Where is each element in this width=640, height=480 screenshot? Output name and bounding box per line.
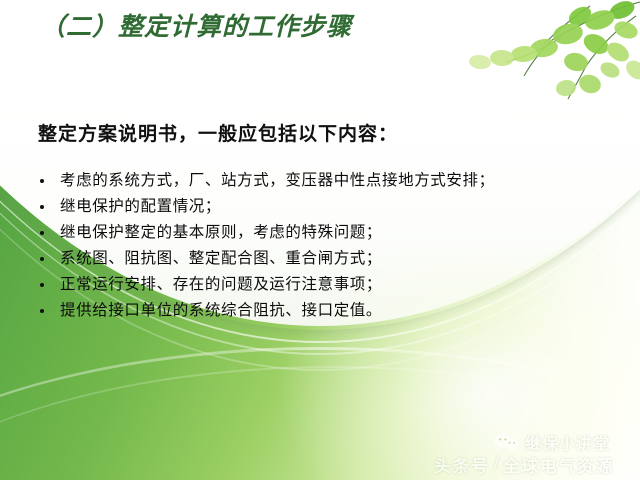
bullet-dot-icon bbox=[40, 309, 44, 313]
list-item-text: 系统图、阻抗图、整定配合图、重合闸方式； bbox=[60, 250, 382, 267]
bullet-dot-icon bbox=[40, 257, 44, 261]
wechat-account-name: 继保小讲堂 bbox=[525, 430, 610, 454]
list-item: 继电保护整定的基本原则，考虑的特殊问题； bbox=[34, 222, 495, 244]
list-item: 正常运行安排、存在的问题及运行注意事项； bbox=[34, 274, 495, 296]
bullet-dot-icon bbox=[40, 283, 44, 287]
list-item: 提供给接口单位的系统综合阻抗、接口定值。 bbox=[34, 300, 495, 322]
wechat-icon bbox=[494, 433, 520, 451]
watermark-separator: / bbox=[494, 454, 499, 476]
list-item: 考虑的系统方式，厂、站方式，变压器中性点接地方式安排； bbox=[34, 170, 495, 192]
section-heading: 整定方案说明书，一般应包括以下内容： bbox=[38, 119, 398, 146]
list-item-text: 正常运行安排、存在的问题及运行注意事项； bbox=[60, 276, 382, 293]
list-item: 系统图、阻抗图、整定配合图、重合闸方式； bbox=[34, 248, 495, 270]
presentation-slide: （二）整定计算的工作步骤 整定方案说明书，一般应包括以下内容： 考虑的系统方式，… bbox=[0, 0, 640, 480]
page-title: （二）整定计算的工作步骤 bbox=[40, 7, 352, 43]
wechat-watermark: 继保小讲堂 bbox=[494, 430, 610, 454]
bullet-dot-icon bbox=[40, 231, 44, 235]
toutiao-platform-label: 头条号 bbox=[434, 452, 490, 477]
list-item-text: 继电保护整定的基本原则，考虑的特殊问题； bbox=[60, 224, 382, 241]
list-item-text: 考虑的系统方式，厂、站方式，变压器中性点接地方式安排； bbox=[60, 172, 495, 189]
bullet-list: 考虑的系统方式，厂、站方式，变压器中性点接地方式安排； 继电保护的配置情况； 继… bbox=[34, 170, 495, 326]
toutiao-watermark: 头条号 / 全球电气资源 bbox=[434, 452, 614, 477]
list-item: 继电保护的配置情况； bbox=[34, 196, 495, 218]
list-item-text: 提供给接口单位的系统综合阻抗、接口定值。 bbox=[60, 302, 382, 319]
bullet-dot-icon bbox=[40, 205, 44, 209]
toutiao-account-name: 全球电气资源 bbox=[503, 452, 614, 477]
list-item-text: 继电保护的配置情况； bbox=[60, 198, 221, 215]
bullet-dot-icon bbox=[40, 179, 44, 183]
